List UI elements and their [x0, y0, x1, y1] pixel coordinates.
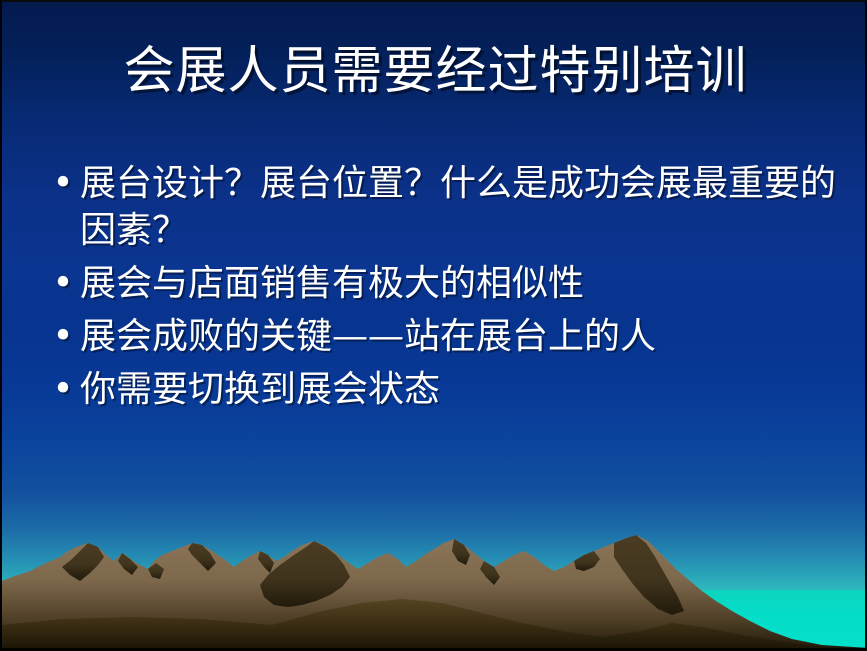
bullet-text: 展会成败的关键——站在展台上的人: [80, 313, 836, 360]
bullet-item: • 展会成败的关键——站在展台上的人: [46, 313, 836, 360]
bullet-text: 你需要切换到展会状态: [80, 366, 836, 413]
bullet-item: • 展会与店面销售有极大的相似性: [46, 260, 836, 307]
bullet-text: 展会与店面销售有极大的相似性: [80, 260, 836, 307]
slide-body-content: • 展台设计？展台位置？什么是成功会展最重要的因素？ • 展会与店面销售有极大的…: [46, 160, 836, 419]
bullet-item: • 展台设计？展台位置？什么是成功会展最重要的因素？: [46, 160, 836, 254]
bullet-text: 展台设计？展台位置？什么是成功会展最重要的因素？: [80, 160, 836, 254]
presentation-slide: 会展人员需要经过特别培训 • 展台设计？展台位置？什么是成功会展最重要的因素？ …: [0, 0, 867, 651]
slide-title: 会展人员需要经过特别培训: [2, 42, 867, 102]
bullet-item: • 你需要切换到展会状态: [46, 366, 836, 413]
bullet-marker-icon: •: [46, 313, 80, 360]
bullet-marker-icon: •: [46, 366, 80, 413]
bullet-marker-icon: •: [46, 260, 80, 307]
mountain-range-graphic: [2, 533, 867, 648]
bullet-marker-icon: •: [46, 160, 80, 207]
